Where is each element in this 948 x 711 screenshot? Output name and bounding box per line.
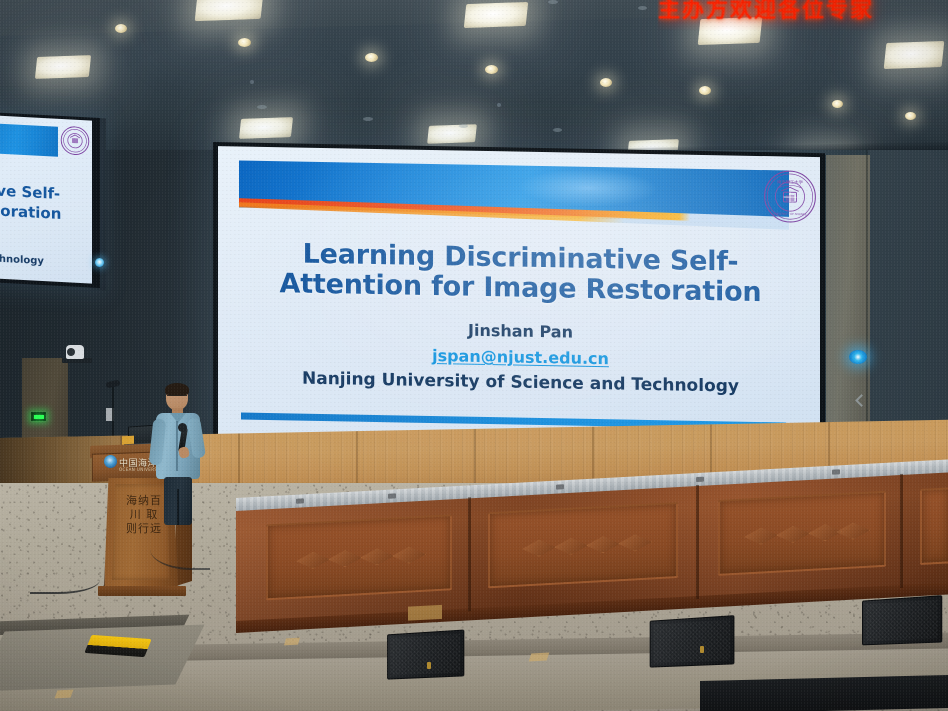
desk-panel-inset: [266, 514, 452, 600]
desk-diamond-motif: [296, 551, 330, 570]
ceiling-downlight: [115, 24, 127, 33]
slide-email-link[interactable]: jspan@njust.edu.cn: [248, 343, 793, 372]
svg-text:南京理工大学: 南京理工大学: [777, 178, 804, 185]
desk-cable-grommet: [296, 498, 304, 503]
svg-text:UNIVERSITY OF SCIENCE: UNIVERSITY OF SCIENCE: [774, 212, 807, 217]
desk-cable-grommet: [388, 493, 396, 498]
ceiling-downlight: [238, 38, 251, 47]
presenter-leg-seam: [177, 489, 179, 525]
ceiling: 主办方欢迎各位专家: [0, 0, 948, 170]
ceiling-panel-light: [884, 41, 945, 69]
floor-step-recess: [0, 625, 205, 692]
desk-section-seam: [468, 497, 471, 611]
desk-cable-grommet: [556, 484, 564, 489]
ceiling-panel-light: [239, 117, 293, 139]
speaker-badge-icon: [427, 662, 431, 669]
ceiling-downlight: [600, 78, 612, 87]
ceiling-fixture: [363, 117, 373, 121]
ceiling-fixture: [638, 6, 647, 10]
desk-shim-block: [408, 605, 442, 621]
ceiling-downlight: [365, 53, 378, 62]
monitor-slide-mirror: tive Self- estoration d Technology: [0, 115, 92, 283]
slide-affiliation: Nanjing University of Science and Techno…: [238, 367, 803, 397]
monitor-text-line3: d Technology: [0, 252, 44, 267]
desk-diamond-motif: [360, 547, 394, 566]
podium-base-plinth: [98, 586, 186, 596]
desk-diamond-motif: [328, 549, 362, 568]
ceiling-sprinkler: [497, 103, 501, 107]
ceiling-panel-light: [35, 55, 91, 79]
ceiling-sprinkler: [250, 80, 254, 84]
glasses-icon: [167, 395, 187, 400]
exit-sign: [31, 412, 46, 421]
slide-author: Jinshan Pan: [248, 317, 793, 346]
ceiling-fixture: [257, 105, 267, 109]
stage-monitor-speaker: [650, 615, 735, 667]
speaker-badge-icon: [700, 646, 704, 653]
njust-seal-logo: 南京理工大学 UNIVERSITY OF SCIENCE: [763, 169, 817, 224]
desk-panel-inset: [488, 502, 678, 588]
monitor-text-line1: tive Self-: [0, 181, 60, 203]
desk-panel-inset: [920, 487, 948, 565]
slide-title: Learning Discriminative Self- Attention …: [248, 239, 793, 309]
desk-diamond-motif: [618, 533, 652, 552]
ouc-emblem-icon: [104, 455, 117, 468]
ceiling-fixture: [548, 0, 558, 4]
desk-diamond-motif: [392, 546, 426, 565]
desk-diamond-motif: [522, 539, 556, 558]
desk-diamond-motif: [776, 525, 810, 544]
foreground-dark-object: [700, 675, 948, 711]
ceiling-panel-light: [195, 0, 264, 21]
ceiling-downlight: [905, 112, 916, 120]
presentation-slide: 南京理工大学 UNIVERSITY OF SCIENCE Learning Di…: [218, 146, 820, 447]
desk-diamond-motif: [586, 535, 620, 554]
monitor-slide-header: [0, 121, 58, 157]
ceiling-downlight: [485, 65, 498, 74]
ceiling-fixture: [553, 128, 562, 132]
desk-diamond-motif: [836, 522, 870, 541]
projection-screen: 南京理工大学 UNIVERSITY OF SCIENCE Learning Di…: [213, 142, 825, 451]
ceiling-fixture: [459, 124, 468, 128]
ceiling-panel-light: [464, 2, 529, 28]
slide-header-glare: [518, 168, 658, 209]
monitor-power-button[interactable]: [95, 258, 104, 267]
ceiling-downlight: [832, 100, 843, 108]
desk-diamond-motif: [554, 537, 588, 556]
desk-diamond-motif: [744, 527, 778, 546]
presenter-person: [150, 385, 210, 525]
desk-cable-grommet: [832, 469, 840, 474]
ceiling-downlight: [699, 86, 711, 95]
ceiling-panel-light: [427, 124, 477, 144]
camera-lens-icon: [67, 348, 75, 356]
auditorium-scene: 主办方欢迎各位专家 南京理工大学 UNIVERSITY OF: [0, 0, 948, 711]
secondary-monitor: tive Self- estoration d Technology: [0, 112, 100, 288]
microphone-capsule-icon: [178, 423, 187, 432]
blue-indicator-light: [849, 350, 867, 364]
wood-panel-seam: [474, 429, 476, 491]
floor-paper-scrap: [55, 690, 74, 699]
desk-section-seam: [900, 474, 903, 588]
monitor-text-line2: estoration: [0, 200, 61, 223]
njust-seal-logo-small: [60, 125, 90, 157]
floor-paper-scrap: [284, 638, 300, 646]
desk-diamond-motif: [808, 523, 842, 542]
led-message-banner: 主办方欢迎各位专家: [658, 0, 948, 30]
desk-section-seam: [696, 485, 699, 599]
stage-monitor-speaker: [387, 630, 464, 680]
floor-paper-scrap: [529, 653, 550, 662]
desk-panel-inset: [718, 491, 886, 576]
desk-cable-grommet: [696, 477, 704, 482]
stage-monitor-speaker: [862, 595, 942, 645]
